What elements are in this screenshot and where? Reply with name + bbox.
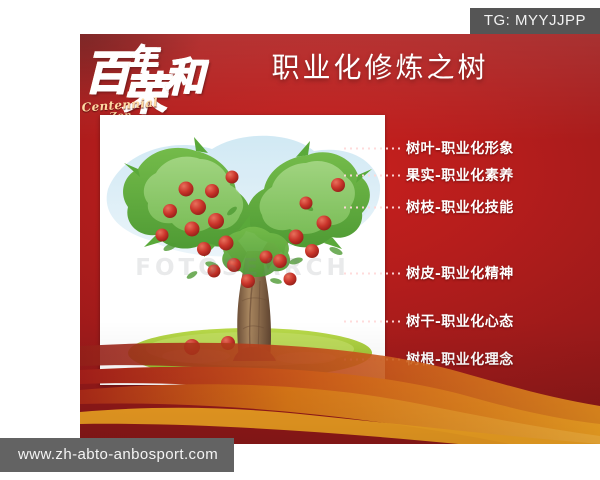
brand-logo: 百 年 荣 和 Centennial Zon xyxy=(80,46,228,124)
poster: 百 年 荣 和 Centennial Zon 职业化修炼之树 xyxy=(80,34,600,444)
leader-line-leaf xyxy=(342,147,402,150)
leader-line-branch xyxy=(342,206,402,209)
label-fruit: 果实-职业化素养 xyxy=(406,165,514,185)
label-branch: 树枝-职业化技能 xyxy=(406,197,514,217)
telegram-watermark-badge: TG: MYYJJPP xyxy=(470,8,600,34)
logo-char-he: 和 xyxy=(164,58,204,98)
leader-line-fruit xyxy=(342,174,402,177)
label-leaf: 树叶-职业化形象 xyxy=(406,138,514,158)
label-trunk: 树干-职业化心态 xyxy=(406,311,514,331)
poster-title: 职业化修炼之树 xyxy=(235,54,525,82)
leader-line-bark xyxy=(342,272,402,275)
ribbon-decoration xyxy=(80,332,600,444)
label-bark: 树皮-职业化精神 xyxy=(406,263,514,283)
leader-line-trunk xyxy=(342,320,402,323)
screenshot-root: TG: MYYJJPP 百 年 荣 和 Centennial Zon 职业化修炼… xyxy=(0,0,600,480)
footer-url: www.zh-abto-anbosport.com xyxy=(0,438,234,472)
